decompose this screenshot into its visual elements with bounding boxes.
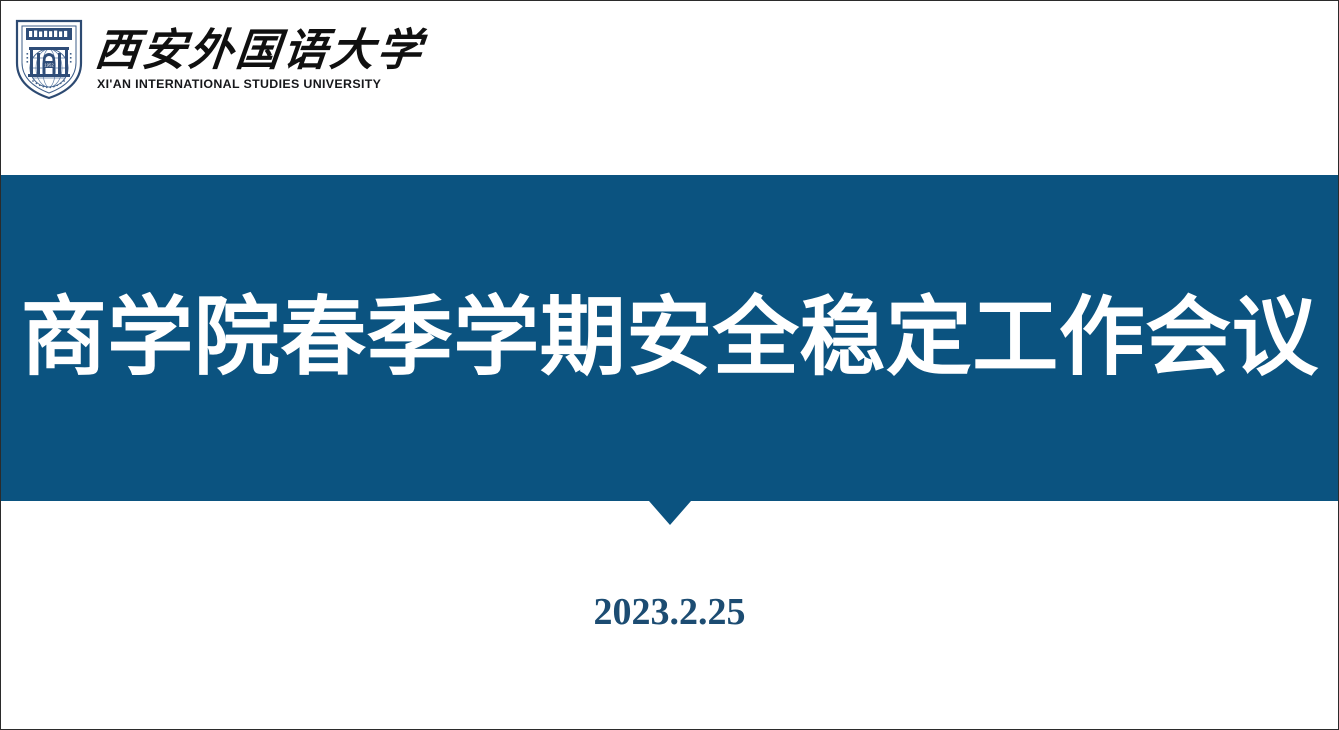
university-name-cn: 西安外国语大学 <box>93 29 427 74</box>
svg-text:1952: 1952 <box>44 62 54 67</box>
university-wordmark: 西安外国语大学 XI'AN INTERNATIONAL STUDIES UNIV… <box>95 27 424 91</box>
university-name-en: XI'AN INTERNATIONAL STUDIES UNIVERSITY <box>97 77 424 91</box>
title-band: 商学院春季学期安全稳定工作会议 <box>1 175 1338 501</box>
meeting-date: 2023.2.25 <box>1 590 1338 634</box>
chevron-down-icon <box>649 501 691 525</box>
page-title: 商学院春季学期安全稳定工作会议 <box>1 291 1338 386</box>
presentation-slide: 1952 西安外国语大学 XI'AN INTERNATIONAL STU <box>0 0 1339 730</box>
university-shield-crest-icon: 1952 <box>13 17 85 101</box>
university-logo-lockup: 1952 西安外国语大学 XI'AN INTERNATIONAL STU <box>13 17 424 101</box>
